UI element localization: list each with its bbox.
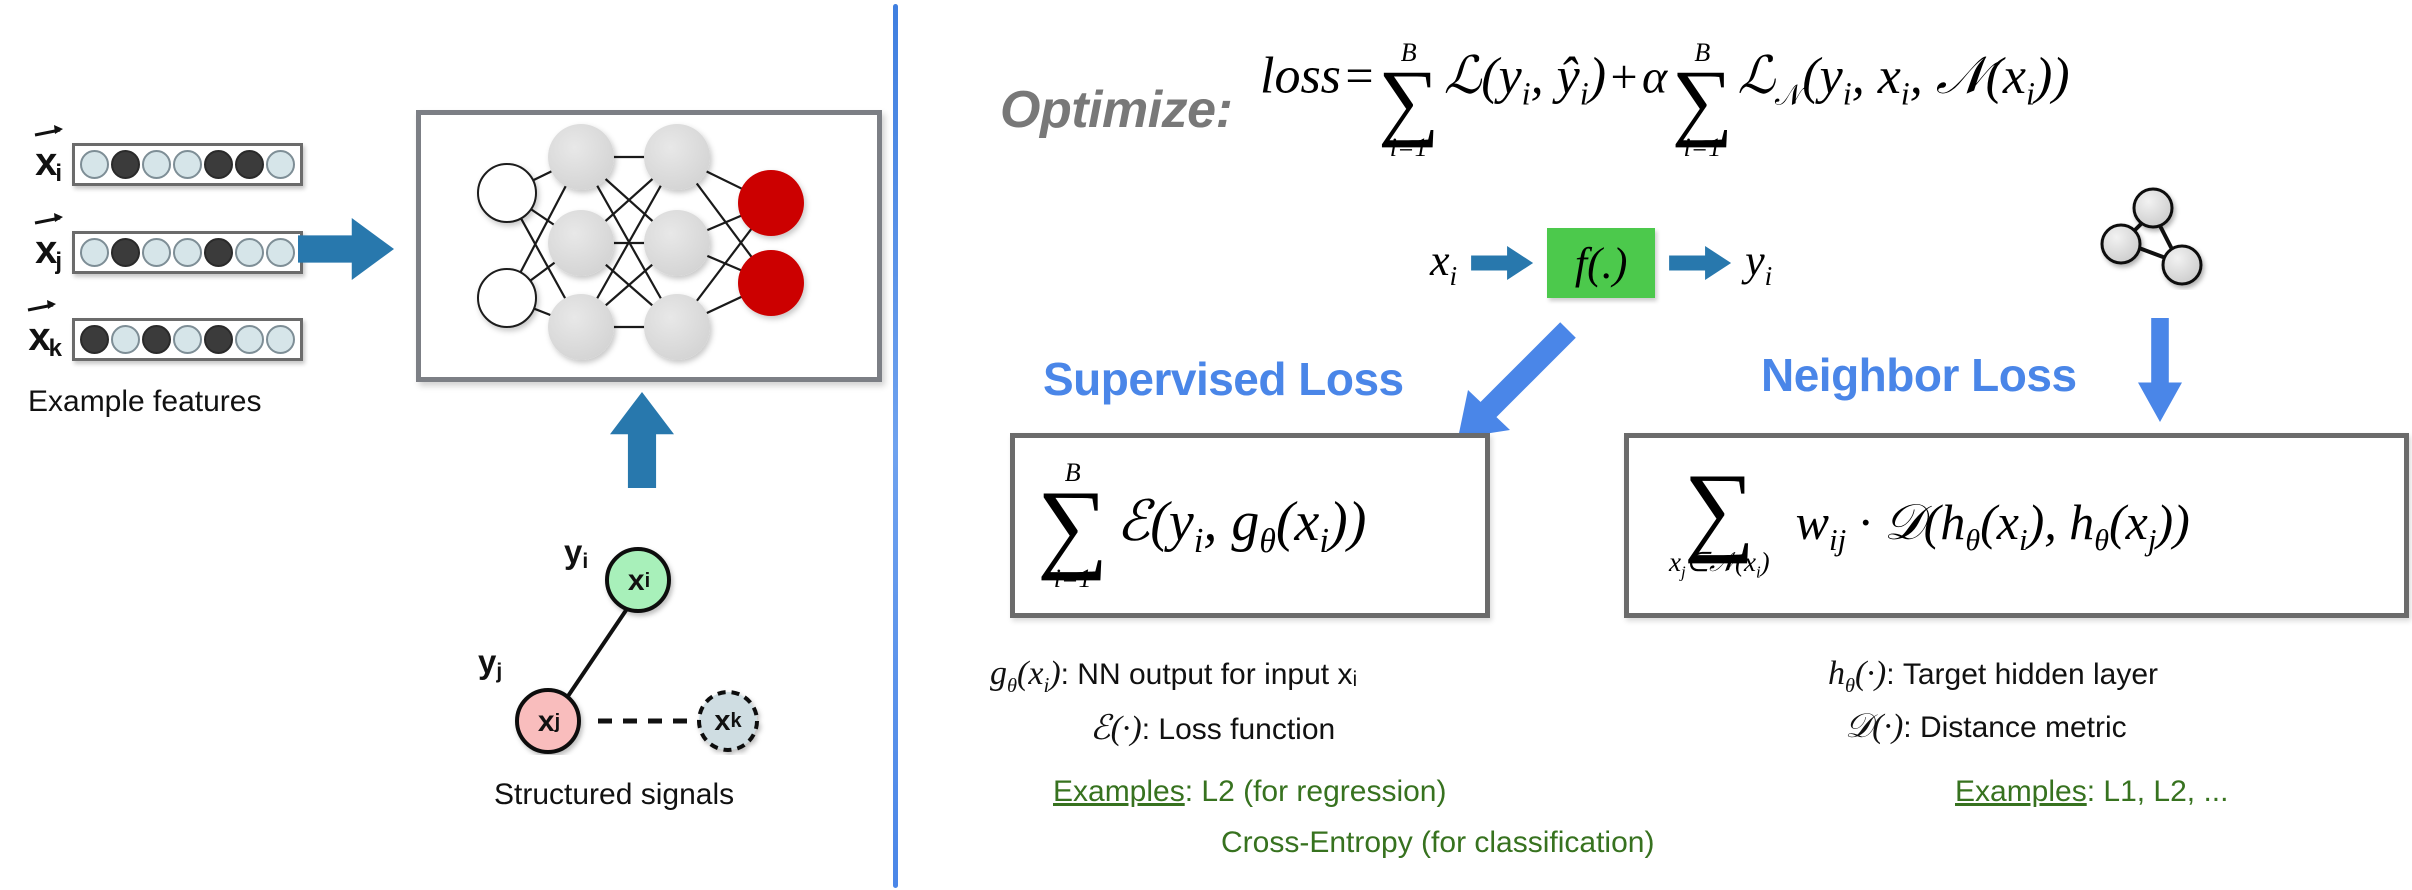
supervised-examples-row-1: Cross-Entropy (for classification)	[1221, 826, 1654, 860]
vec-sub-k: k	[49, 335, 62, 362]
nn-input-node	[478, 164, 536, 222]
supervised-examples-text-0: : L2 (for regression)	[1185, 775, 1447, 808]
features-to-network-arrow-icon	[298, 218, 394, 280]
neighbor-formula-body: wij · 𝒟(hθ(xi), hθ(xj))	[1796, 493, 2190, 558]
vec-sub-j: j	[55, 248, 62, 275]
sum-lower-1: i=1	[1390, 135, 1428, 161]
equals-sign: =	[1345, 48, 1373, 104]
feature-cell	[266, 325, 295, 354]
graph-node-label-xj: xj	[518, 691, 580, 753]
neighbor-examples-label: Examples	[1955, 775, 2087, 808]
nn-input-node	[478, 269, 536, 327]
structured-signals-graph: xi xj xk yi yj	[480, 525, 840, 755]
neural-network-diagram	[421, 115, 877, 377]
nn-hidden-node	[548, 124, 614, 190]
sum-operator-1: B ∑ i=1	[1378, 40, 1439, 161]
feature-cell	[111, 238, 140, 267]
sum-sigma-icon: ∑	[1672, 66, 1733, 135]
feature-vector-row-i: xi	[0, 140, 303, 188]
feature-cell	[173, 325, 202, 354]
plus-sign: +	[1610, 51, 1637, 104]
neighbor-loss-title: Neighbor Loss	[1761, 348, 2077, 402]
function-box: f(.)	[1547, 228, 1655, 298]
feature-vector-box-i	[72, 143, 303, 186]
vector-arrow-icon	[34, 211, 64, 229]
vec-letter-k: x	[28, 315, 50, 359]
pipeline-output-label: yi	[1745, 235, 1772, 292]
neighbor-sum-operator: ∑ xj∈𝒩(xi)	[1669, 469, 1770, 581]
feature-cell	[111, 150, 140, 179]
feature-vector-row-k: xk	[0, 315, 303, 363]
feature-cell	[266, 238, 295, 267]
neighbor-examples-text-0: : L1, L2, ...	[2087, 775, 2229, 808]
vector-arrow-icon	[34, 123, 64, 141]
supervised-legend-text-1: : Loss function	[1142, 713, 1335, 746]
neural-network-box	[416, 110, 882, 382]
supervised-loss-title: Supervised Loss	[1043, 352, 1404, 406]
supervised-loss-formula-box: B ∑ i=1 ℰ(yi, gθ(xi))	[1010, 433, 1490, 618]
neighbor-loss-formula-box: ∑ xj∈𝒩(xi) wij · 𝒟(hθ(xi), hθ(xj))	[1624, 433, 2409, 618]
supervised-legend-text-0: : NN output for input xᵢ	[1061, 658, 1358, 691]
pipeline-input-label: xi	[1430, 235, 1457, 292]
supervised-sum-operator: B ∑ i=1	[1037, 460, 1108, 592]
neighbor-legend-row-1: 𝒟(·): Distance metric	[1845, 708, 2127, 746]
graph-edge-solid	[562, 597, 635, 705]
supervised-legend-symbol-0: gθ(xi)	[990, 655, 1061, 692]
feature-cell	[142, 325, 171, 354]
neighbor-sum-lower: xj∈𝒩(xi)	[1669, 549, 1770, 581]
supervised-legend-row-0: gθ(xi): NN output for input xᵢ	[990, 655, 1357, 698]
loss-word: loss	[1260, 48, 1341, 105]
feature-cell	[80, 150, 109, 179]
feature-vector-label-i: xi	[0, 140, 72, 188]
neighbor-legend-text-1: : Distance metric	[1903, 711, 2126, 744]
nn-hidden-node	[644, 294, 710, 360]
neighbor-legend-row-0: hθ(·): Target hidden layer	[1828, 655, 2158, 698]
vec-letter-j: x	[35, 228, 57, 272]
pipeline-arrow-in-icon	[1471, 246, 1533, 280]
graph-node-label-xk: xk	[699, 692, 757, 750]
example-features-caption: Example features	[28, 385, 261, 419]
sum-lower-2: i=1	[1683, 135, 1721, 161]
supervised-sum-lower: i=1	[1054, 566, 1092, 592]
feature-cell	[142, 238, 171, 267]
neighbor-examples-row-0: Examples: L1, L2, ...	[1955, 775, 2228, 809]
vec-sub-i: i	[55, 160, 62, 187]
sum-sigma-icon: ∑	[1037, 486, 1108, 566]
feature-cell	[173, 238, 202, 267]
feature-vector-box-k	[72, 318, 303, 361]
supervised-term: ℒ(yi, ŷi)	[1444, 48, 1606, 105]
feature-cell	[204, 238, 233, 267]
sum-sigma-icon: ∑	[1378, 66, 1439, 135]
feature-vector-label-j: xj	[0, 228, 72, 276]
optimize-label: Optimize:	[1000, 80, 1232, 140]
nn-hidden-node	[644, 124, 710, 190]
feature-cell	[204, 325, 233, 354]
signals-to-network-arrow-icon	[610, 392, 674, 488]
pipeline-arrow-out-icon	[1669, 246, 1731, 280]
feature-cell	[204, 150, 233, 179]
graph-y-label-j: yj	[478, 643, 502, 684]
sum-sigma-icon: ∑	[1684, 469, 1755, 549]
feature-cell	[266, 150, 295, 179]
supervised-examples-label: Examples	[1053, 775, 1185, 808]
feature-cell	[111, 325, 140, 354]
feature-cell	[80, 238, 109, 267]
structured-signals-caption: Structured signals	[494, 778, 734, 812]
loss-equation: loss = B ∑ i=1 ℒ(yi, ŷi) + α B ∑ i=1 ℒ𝒩(…	[1260, 40, 2070, 161]
feature-cell	[235, 325, 264, 354]
vector-arrow-icon	[27, 298, 57, 316]
supervised-legend-row-1: ℰ(·): Loss function	[1090, 708, 1335, 748]
feature-vector-row-j: xj	[0, 228, 303, 276]
nn-hidden-node	[548, 210, 614, 276]
nn-output-node	[738, 170, 804, 236]
vec-letter-i: x	[35, 140, 57, 184]
supervised-legend-symbol-1: ℰ(·)	[1090, 710, 1142, 747]
alpha-symbol: α	[1642, 51, 1667, 104]
sum-operator-2: B ∑ i=1	[1672, 40, 1733, 161]
nn-output-node	[738, 250, 804, 316]
function-pipeline: xi f(.) yi	[1430, 228, 1772, 298]
feature-cell	[173, 150, 202, 179]
nn-hidden-node	[644, 210, 710, 276]
neighbor-legend-symbol-0: hθ(·)	[1828, 655, 1886, 692]
neighbor-term: ℒ𝒩(yi, xi, 𝒩(xi))	[1737, 48, 2069, 105]
graph-node-label-xi: xi	[608, 550, 670, 612]
feature-cell	[142, 150, 171, 179]
feature-cell	[235, 150, 264, 179]
neighbor-legend-text-0: : Target hidden layer	[1886, 658, 2158, 691]
feature-vector-label-k: xk	[0, 315, 72, 363]
neighbor-loss-arrow-icon	[2138, 318, 2182, 422]
panel-divider	[893, 4, 898, 888]
supervised-examples-row-0: Examples: L2 (for regression)	[1053, 775, 1447, 809]
neighbor-graph-icon	[2100, 180, 2230, 295]
neighbor-legend-symbol-1: 𝒟(·)	[1845, 708, 1903, 745]
feature-cell	[235, 238, 264, 267]
supervised-formula-body: ℰ(yi, gθ(xi))	[1116, 489, 1366, 561]
feature-cell	[80, 325, 109, 354]
nn-hidden-node	[548, 294, 614, 360]
supervised-loss-arrow-icon	[1448, 320, 1578, 442]
graph-y-label-i: yi	[564, 533, 588, 574]
feature-vector-box-j	[72, 231, 303, 274]
